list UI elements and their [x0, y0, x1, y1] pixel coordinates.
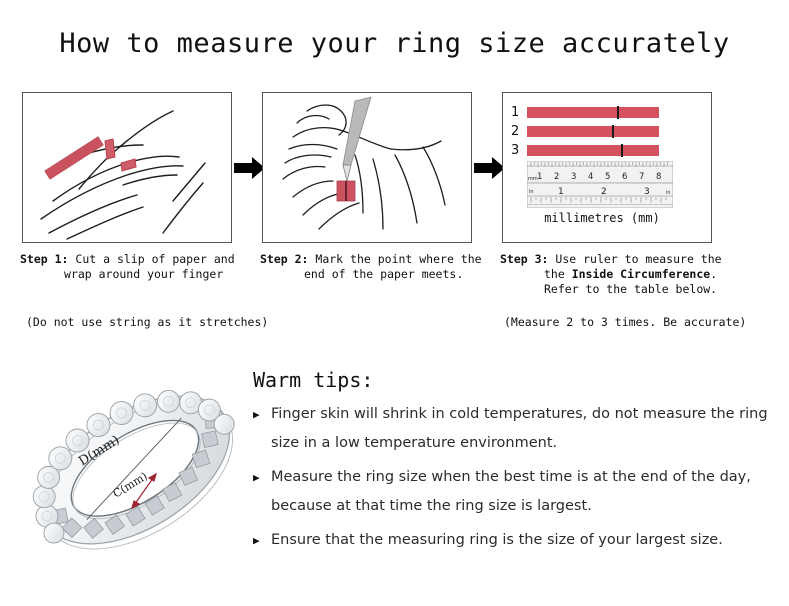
svg-text:in: in [529, 189, 534, 195]
unit-caption: millimetres (mm) [503, 211, 701, 225]
warm-tip-item: ▶ Finger skin will shrink in cold temper… [253, 400, 773, 458]
warm-tip-text: Finger skin will shrink in cold temperat… [271, 400, 773, 458]
step-2-caption: Step 2: Mark the point where the end of … [260, 252, 490, 282]
paper-strip-bar-2 [527, 126, 659, 137]
triangle-bullet-icon: ▶ [253, 526, 271, 555]
step-3-line-2-suffix: . [710, 267, 717, 281]
step-2-line-2: end of the paper meets. [260, 267, 490, 282]
warm-tips-list: ▶ Finger skin will shrink in cold temper… [253, 400, 773, 560]
warm-tips-heading: Warm tips: [253, 368, 373, 392]
svg-text:mm: mm [528, 176, 538, 182]
svg-text:3: 3 [571, 172, 576, 182]
ring-size-guide-page: How to measure your ring size accurately [0, 0, 789, 606]
strip-mark-tick-2 [612, 125, 614, 138]
step-3-line-2-prefix: the [544, 267, 572, 281]
step-1-label: Step 1: [20, 252, 68, 266]
svg-text:2: 2 [601, 187, 607, 197]
step-1-line-1: Cut a slip of paper and [75, 252, 234, 266]
svg-text:1: 1 [558, 187, 564, 197]
step-3-line-2: the Inside Circumference. [500, 267, 750, 282]
page-title: How to measure your ring size accurately [0, 28, 789, 59]
inside-circumference-emphasis: Inside Circumference [572, 267, 710, 281]
strip-number-2: 2 [511, 124, 527, 139]
warm-tip-item: ▶ Measure the ring size when the best ti… [253, 463, 773, 521]
step-3-line-3: Refer to the table below. [500, 282, 750, 297]
step-3-line-1: Use ruler to measure the [555, 252, 721, 266]
paper-strip-row-3: 3 [511, 143, 659, 158]
hand-with-paper-strip-illustration [23, 93, 231, 242]
step-1-illustration-panel [22, 92, 232, 243]
step-3-note: (Measure 2 to 3 times. Be accurate) [504, 315, 746, 329]
ring-diagram-illustration: D(mm) C(mm) [20, 352, 252, 582]
step-3-caption: Step 3: Use ruler to measure the the Ins… [500, 252, 750, 297]
step-3-label: Step 3: [500, 252, 548, 266]
paper-strip-bar-3 [527, 145, 659, 156]
paper-strip-row-1: 1 [511, 105, 659, 120]
strip-number-1: 1 [511, 105, 527, 120]
paper-strip-bar-1 [527, 107, 659, 118]
triangle-bullet-icon: ▶ [253, 463, 271, 492]
warm-tip-text: Ensure that the measuring ring is the si… [271, 526, 723, 555]
step-2-line-1: Mark the point where the [315, 252, 481, 266]
ruler-icon: 12 34 56 78 mm 12 3 in in [527, 161, 673, 208]
svg-text:8: 8 [656, 172, 661, 182]
svg-text:5: 5 [605, 172, 610, 182]
svg-text:6: 6 [622, 172, 627, 182]
step-3-measure-panel: 1 2 3 [502, 92, 712, 243]
step-1-line-2: wrap around your finger [20, 267, 250, 282]
strip-number-3: 3 [511, 143, 527, 158]
strip-mark-tick-3 [621, 144, 623, 157]
svg-text:3: 3 [644, 187, 650, 197]
paper-strip-row-2: 2 [511, 124, 659, 139]
svg-text:1: 1 [537, 172, 542, 182]
strip-mark-tick-1 [617, 106, 619, 119]
svg-text:7: 7 [639, 172, 644, 182]
step-2-illustration-panel [262, 92, 472, 243]
svg-text:in: in [666, 190, 671, 196]
svg-text:2: 2 [554, 172, 559, 182]
warm-tip-text: Measure the ring size when the best time… [271, 463, 773, 521]
hand-marking-paper-with-pen-illustration [263, 93, 471, 242]
step-1-caption: Step 1: Cut a slip of paper and wrap aro… [20, 252, 250, 282]
step-2-label: Step 2: [260, 252, 308, 266]
triangle-bullet-icon: ▶ [253, 400, 271, 429]
step-1-note: (Do not use string as it stretches) [26, 315, 268, 329]
warm-tip-item: ▶ Ensure that the measuring ring is the … [253, 526, 773, 555]
svg-text:4: 4 [588, 172, 593, 182]
